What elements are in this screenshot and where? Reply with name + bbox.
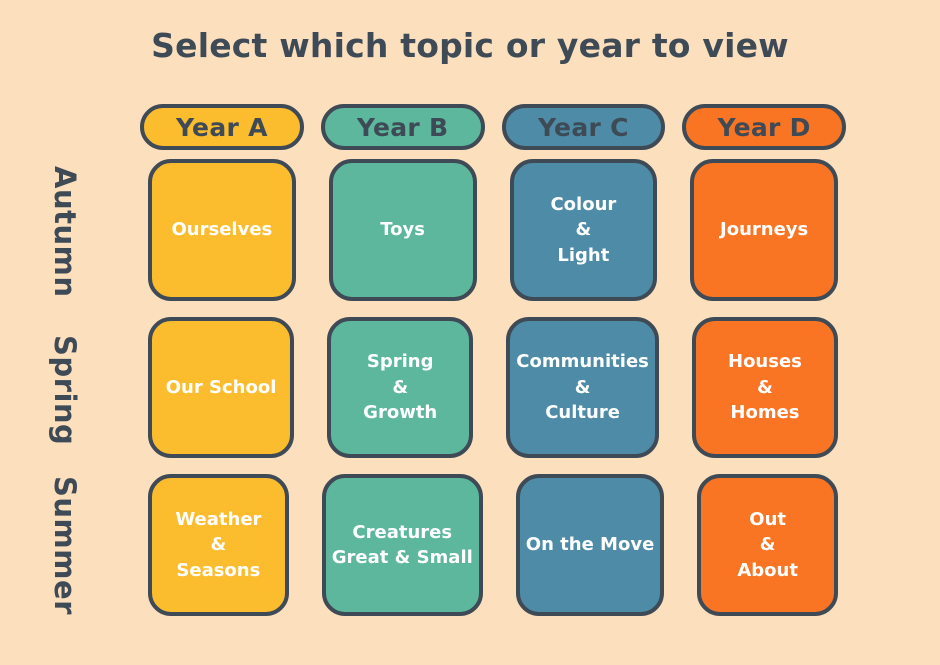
topic-card-summer-year-a[interactable]: Weather&Seasons	[148, 474, 289, 616]
topic-card-line: About	[737, 558, 798, 584]
topic-card-line: Seasons	[176, 558, 260, 584]
year-button-d[interactable]: Year D	[682, 104, 846, 150]
page-title: Select which topic or year to view	[0, 28, 940, 64]
topic-card-line: Culture	[545, 400, 620, 426]
topic-row-summer: Weather&Seasons CreaturesGreat & Small O…	[140, 474, 846, 616]
topic-card-line: Toys	[380, 217, 425, 243]
topic-card-line: &	[760, 532, 776, 558]
season-label-summer: Summer	[0, 473, 130, 618]
topic-card-line: Homes	[730, 400, 799, 426]
year-button-b-label: Year B	[357, 113, 449, 142]
topic-row-autumn: Ourselves Toys Colour&Light Journeys	[140, 159, 846, 301]
topic-card-spring-year-c[interactable]: Communities&Culture	[506, 317, 659, 459]
topic-grid: Year A Year B Year C Year D Ourselves To…	[140, 104, 846, 616]
topic-card-line: Journeys	[720, 217, 808, 243]
topic-card-summer-year-b[interactable]: CreaturesGreat & Small	[322, 474, 483, 616]
topic-card-line: Growth	[363, 400, 437, 426]
topic-card-autumn-year-c[interactable]: Colour&Light	[510, 159, 658, 301]
topic-card-line: Weather	[175, 507, 261, 533]
topic-card-line: Spring	[367, 349, 434, 375]
topic-card-spring-year-b[interactable]: Spring&Growth	[327, 317, 473, 459]
topic-card-summer-year-c[interactable]: On the Move	[516, 474, 665, 616]
topic-card-line: &	[392, 375, 408, 401]
topic-card-autumn-year-a[interactable]: Ourselves	[148, 159, 296, 301]
year-button-a-label: Year A	[176, 113, 268, 142]
topic-card-spring-year-a[interactable]: Our School	[148, 317, 294, 459]
topic-card-line: Creatures	[352, 520, 452, 546]
year-header-row: Year A Year B Year C Year D	[140, 104, 846, 154]
topic-card-line: Colour	[550, 192, 616, 218]
season-label-spring: Spring	[0, 318, 130, 463]
year-button-d-label: Year D	[718, 113, 811, 142]
topic-card-line: Communities	[516, 349, 649, 375]
topic-card-spring-year-d[interactable]: Houses&Homes	[692, 317, 838, 459]
topic-card-line: Our School	[166, 375, 277, 401]
topic-card-line: &	[211, 532, 227, 558]
topic-card-line: Great & Small	[332, 545, 473, 571]
topic-selector-page: Select which topic or year to view Autum…	[0, 0, 940, 665]
year-button-c[interactable]: Year C	[502, 104, 666, 150]
year-button-a[interactable]: Year A	[140, 104, 304, 150]
season-label-autumn: Autumn	[0, 159, 130, 304]
topic-card-autumn-year-d[interactable]: Journeys	[690, 159, 838, 301]
year-button-b[interactable]: Year B	[321, 104, 485, 150]
topic-card-line: Light	[557, 243, 609, 269]
topic-card-line: On the Move	[526, 532, 655, 558]
topic-card-line: &	[576, 217, 592, 243]
topic-card-line: Houses	[728, 349, 802, 375]
topic-card-line: Out	[749, 507, 786, 533]
topic-card-autumn-year-b[interactable]: Toys	[329, 159, 477, 301]
topic-card-summer-year-d[interactable]: Out&About	[697, 474, 838, 616]
topic-card-grid: Ourselves Toys Colour&Light Journeys Our…	[140, 159, 846, 616]
topic-row-spring: Our School Spring&Growth Communities&Cul…	[140, 317, 846, 459]
year-button-c-label: Year C	[538, 113, 629, 142]
topic-card-line: &	[757, 375, 773, 401]
topic-card-line: Ourselves	[172, 217, 273, 243]
topic-card-line: &	[575, 375, 591, 401]
